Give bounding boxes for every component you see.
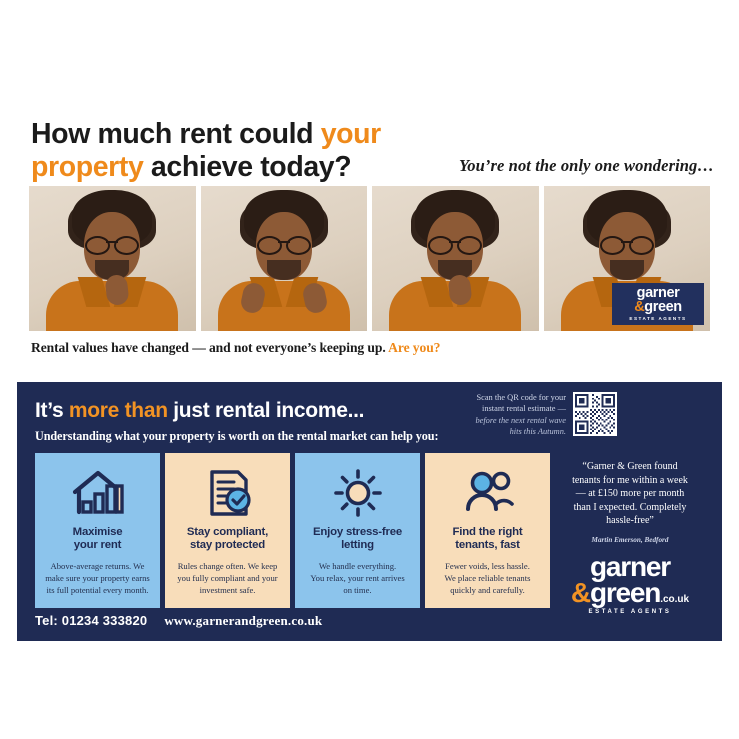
card-body: Fewer voids, less hassle. We place relia… [445, 560, 531, 597]
card-body-line-3: quickly and carefully. [450, 585, 525, 595]
card-body: Above-average returns. We make sure your… [45, 560, 150, 597]
contact-bar: Tel: 01234 333820 www.garnerandgreen.co.… [35, 613, 322, 629]
photo-beard [267, 260, 301, 280]
logo-ampersand: & [634, 299, 644, 315]
testimonial-line-2: tenants for me within a week [572, 475, 688, 486]
benefit-card-stress-free-letting[interactable]: Enjoy stress-free letting We handle ever… [295, 453, 420, 608]
contact-website[interactable]: www.garnerandgreen.co.uk [164, 613, 322, 629]
panel-title-part-2: just rental income... [168, 399, 364, 422]
card-title-line-1: Enjoy stress-free [313, 526, 402, 538]
testimonial-line-3: — at £150 more per month [576, 488, 685, 499]
footer-logo-tagline: ESTATE AGENTS [552, 610, 708, 616]
card-title-line-2: your rent [74, 539, 122, 551]
logo-tagline: ESTATE AGENTS [629, 316, 686, 321]
card-body-line-2: make sure your property earns [45, 573, 150, 583]
logo-word-green: &green [634, 301, 682, 315]
card-body-line-1: Rules change often. We keep [178, 561, 278, 571]
logo-green-text: green [644, 299, 682, 315]
photo-beard [610, 260, 644, 280]
benefit-card-maximise-rent[interactable]: Maximise your rent Above-average returns… [35, 453, 160, 608]
card-title-line-1: Maximise [73, 526, 123, 538]
card-body-line-3: investment safe. [200, 585, 256, 595]
document-check-icon [200, 466, 256, 520]
card-title-line-1: Stay compliant, [187, 526, 268, 538]
strapline: Rental values have changed — and not eve… [31, 340, 440, 356]
advert-page: How much rent could your property achiev… [0, 0, 739, 739]
photo-glasses-bridge [106, 241, 118, 243]
portrait-photo-3 [372, 186, 539, 331]
card-title-line-2: stay protected [190, 539, 265, 551]
testimonial-line-5: hassle-free” [606, 515, 654, 526]
footer-logo-green-text: green [590, 577, 660, 608]
photo-glasses-bridge [621, 241, 633, 243]
footer-logo-green: &green.co.uk [552, 580, 708, 606]
strapline-text: Rental values have changed — and not eve… [31, 340, 388, 355]
subheadline: You’re not the only one wondering… [459, 156, 714, 176]
footer-logo-ampersand: & [571, 577, 590, 608]
panel-title: It’s more than just rental income... [35, 399, 364, 423]
qr-line-3: before the next rental wave [397, 415, 566, 426]
card-body: Rules change often. We keep you fully co… [177, 560, 277, 597]
sun-icon [330, 466, 386, 520]
card-title: Find the right tenants, fast [453, 526, 523, 553]
card-body-line-2: You relax, your rent arrives [310, 573, 404, 583]
testimonial-line-1: “Garner & Green found [582, 461, 677, 472]
brand-logo-footer: garner &green.co.uk ESTATE AGENTS [552, 554, 708, 615]
photo-glasses-bridge [278, 241, 290, 243]
benefit-cards: Maximise your rent Above-average returns… [35, 453, 550, 608]
card-title-line-1: Find the right [453, 526, 523, 538]
portrait-photo-1 [29, 186, 196, 331]
qr-line-4: hits this Autumn. [397, 426, 566, 437]
testimonial: “Garner & Green found tenants for me wit… [554, 460, 706, 528]
card-body-line-2: We place reliable tenants [445, 573, 531, 583]
headline-part-1: How much rent could [31, 118, 321, 150]
card-title: Enjoy stress-free letting [313, 526, 402, 553]
card-body-line-1: Above-average returns. We [51, 561, 145, 571]
portrait-photo-4: garner &green ESTATE AGENTS [544, 186, 711, 331]
photo-glasses [427, 236, 483, 251]
page-title: How much rent could your property achiev… [31, 118, 431, 185]
strapline-accent: Are you? [388, 340, 440, 355]
qr-line-1: Scan the QR code for your [397, 392, 566, 403]
card-title-line-2: tenants, fast [455, 539, 520, 551]
headline-accent-your: your [321, 118, 381, 150]
headline-part-2: achieve today? [143, 151, 351, 183]
headline-accent-property: property [31, 151, 143, 183]
benefits-panel: It’s more than just rental income... Und… [17, 382, 722, 641]
house-bar-chart-icon [67, 466, 129, 520]
photo-glasses [256, 236, 312, 251]
benefit-card-find-tenants[interactable]: Find the right tenants, fast Fewer voids… [425, 453, 550, 608]
card-title-line-2: letting [341, 539, 374, 551]
photo-glasses-bridge [449, 241, 461, 243]
panel-subtitle: Understanding what your property is wort… [35, 429, 438, 444]
footer-logo-domain: .co.uk [660, 594, 689, 605]
brand-logo-photo-strip: garner &green ESTATE AGENTS [612, 283, 704, 325]
card-body-line-1: We handle everything. [319, 561, 396, 571]
qr-code-icon[interactable] [573, 392, 617, 436]
photo-glasses [84, 236, 140, 251]
card-body-line-2: you fully compliant and your [177, 573, 277, 583]
photo-glasses [599, 236, 655, 251]
card-title: Stay compliant, stay protected [187, 526, 268, 553]
card-title: Maximise your rent [73, 526, 123, 553]
qr-instructions: Scan the QR code for your instant rental… [397, 392, 566, 437]
qr-line-2: instant rental estimate — [397, 403, 566, 414]
benefit-card-stay-compliant[interactable]: Stay compliant, stay protected Rules cha… [165, 453, 290, 608]
portrait-photo-2 [201, 186, 368, 331]
card-body-line-3: its full potential every month. [47, 585, 149, 595]
card-body: We handle everything. You relax, your re… [310, 560, 404, 597]
two-people-icon [458, 466, 518, 520]
testimonial-line-4: than I expected. Completely [574, 502, 687, 513]
panel-title-accent: more than [69, 399, 168, 422]
card-body-line-1: Fewer voids, less hassle. [445, 561, 530, 571]
testimonial-attribution: Martin Emerson, Bedford [554, 536, 706, 544]
contact-telephone[interactable]: Tel: 01234 333820 [35, 613, 147, 628]
panel-title-part-1: It’s [35, 399, 69, 422]
card-body-line-3: on time. [343, 585, 371, 595]
photo-strip: garner &green ESTATE AGENTS [29, 186, 710, 331]
photo-shirt [218, 281, 350, 331]
qr-block[interactable]: Scan the QR code for your instant rental… [397, 392, 617, 437]
